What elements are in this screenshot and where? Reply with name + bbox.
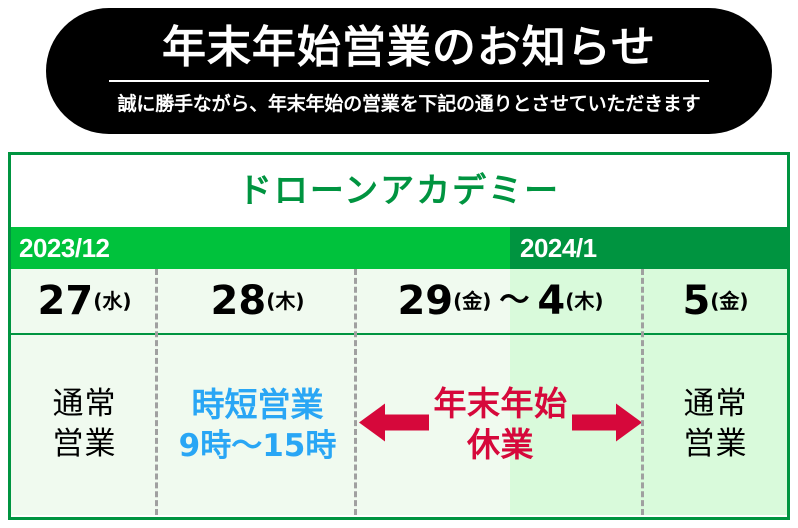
date-dow-29: (金) <box>453 291 491 311</box>
status-cell-5: 通常 営業 <box>644 335 787 515</box>
status-text-closed: 年末年始 休業 <box>434 386 568 464</box>
status-line1-closed: 年末年始 <box>434 386 568 423</box>
date-number-29: 29 <box>397 281 453 321</box>
date-dow-27: (水) <box>93 291 131 311</box>
date-number-5: 5 <box>682 281 710 321</box>
header-subtitle: 誠に勝手ながら、年末年始の営業を下記の通りとさせていただきます <box>118 95 701 114</box>
status-text-short-hours-28: 時短営業 9時〜15時 <box>179 387 337 462</box>
date-dow-28: (木) <box>266 291 304 311</box>
status-line2-5: 営業 <box>684 426 748 462</box>
date-range-separator: 〜 <box>499 286 529 316</box>
date-cell-29-to-4: 29 (金) 〜 4 (木) <box>357 269 644 333</box>
table-title-row: ドローンアカデミー <box>11 155 787 227</box>
status-line1-27: 通常 <box>53 386 117 422</box>
status-text-normal-5: 通常 営業 <box>684 385 748 464</box>
table-title: ドローンアカデミー <box>238 174 560 208</box>
date-dow-4: (木) <box>565 291 603 311</box>
status-line1-5: 通常 <box>684 386 748 422</box>
date-cell-5: 5 (金) <box>644 269 787 333</box>
date-number-4: 4 <box>537 281 565 321</box>
status-line2-closed: 休業 <box>434 427 568 464</box>
status-cell-27: 通常 営業 <box>11 335 158 515</box>
date-cell-27: 27 (水) <box>11 269 158 333</box>
date-dow-5: (金) <box>710 291 748 311</box>
page-title: 年末年始営業のお知らせ <box>162 26 656 70</box>
date-number-27: 27 <box>38 281 94 321</box>
arrow-left-icon <box>359 402 429 449</box>
status-line1-28: 時短営業 <box>179 387 337 423</box>
header-divider <box>109 80 709 82</box>
date-cell-28: 28 (木) <box>158 269 357 333</box>
date-row: 27 (水) 28 (木) 29 (金) 〜 4 (木) 5 (金) <box>11 269 787 335</box>
month-band-january: 2024/1 <box>510 227 787 269</box>
schedule-table: ドローンアカデミー 2023/12 2024/1 27 (水) 28 (木) 2… <box>8 152 790 520</box>
date-number-28: 28 <box>211 281 267 321</box>
status-cell-29-to-4: 年末年始 休業 <box>357 335 644 515</box>
status-line2-27: 営業 <box>53 426 117 462</box>
month-band-december: 2023/12 <box>11 227 510 269</box>
month-label-december: 2023/12 <box>19 235 109 261</box>
month-band-row: 2023/12 2024/1 <box>11 227 787 269</box>
arrow-right-icon <box>572 402 642 449</box>
header-banner: 年末年始営業のお知らせ 誠に勝手ながら、年末年始の営業を下記の通りとさせていただ… <box>46 8 772 134</box>
status-text-normal-27: 通常 営業 <box>53 385 117 464</box>
status-line2-28: 9時〜15時 <box>179 429 337 463</box>
month-label-january: 2024/1 <box>520 235 597 261</box>
status-row: 通常 営業 時短営業 9時〜15時 年末年始 休業 <box>11 335 787 515</box>
status-cell-28: 時短営業 9時〜15時 <box>158 335 357 515</box>
